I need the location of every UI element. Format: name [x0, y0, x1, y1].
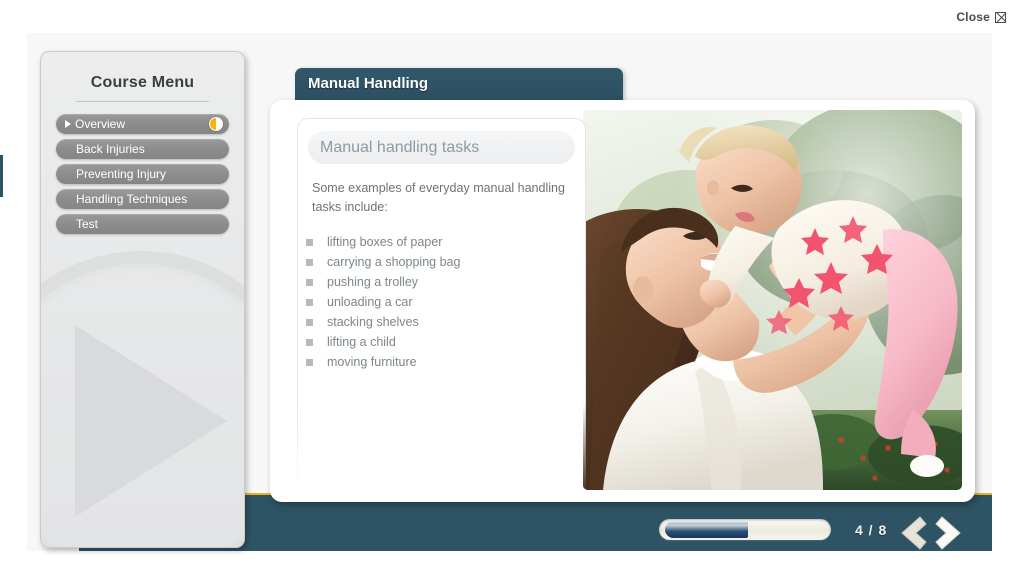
course-menu-sidebar: Course Menu Overview Back Injuries Preve… [40, 51, 245, 548]
content-card: Manual handling tasks Some examples of e… [270, 100, 975, 502]
sidebar-item-label: Test [76, 214, 98, 234]
sidebar-item-label: Back Injuries [76, 139, 145, 159]
square-bullet-icon [306, 259, 313, 266]
square-bullet-icon [306, 239, 313, 246]
list-item: lifting a child [306, 332, 585, 352]
sidebar-item-label: Handling Techniques [76, 189, 187, 209]
previous-page-button[interactable] [896, 512, 930, 554]
list-item-label: lifting a child [327, 335, 396, 349]
sidebar-item-label: Preventing Injury [76, 164, 166, 184]
sidebar-item-handling-techniques[interactable]: Handling Techniques [56, 189, 229, 209]
list-item-label: pushing a trolley [327, 275, 418, 289]
course-menu-title: Course Menu [41, 74, 244, 92]
course-menu-list: Overview Back Injuries Preventing Injury… [41, 114, 244, 234]
chevron-left-icon [896, 512, 930, 554]
photo-illustration [583, 110, 962, 490]
list-item-label: carrying a shopping bag [327, 255, 460, 269]
list-item: stacking shelves [306, 312, 585, 332]
play-caret-icon [65, 120, 71, 128]
square-bullet-icon [306, 339, 313, 346]
window-topbar: Close [0, 0, 1018, 30]
list-item: lifting boxes of paper [306, 232, 585, 252]
list-item-label: lifting boxes of paper [327, 235, 442, 249]
list-item-label: unloading a car [327, 295, 412, 309]
content-header-tab: Manual Handling [295, 68, 623, 102]
task-panel-heading-label: Manual handling tasks [320, 139, 479, 157]
right-gutter [992, 33, 1018, 551]
sidebar-item-back-injuries[interactable]: Back Injuries [56, 139, 229, 159]
square-bullet-icon [306, 299, 313, 306]
menu-divider [76, 101, 209, 102]
sidebar-item-label: Overview [75, 114, 125, 134]
course-player: Close Course Menu Overview Back Injuries… [0, 0, 1018, 571]
square-bullet-icon [306, 319, 313, 326]
square-bullet-icon [306, 279, 313, 286]
course-progress-fill [665, 521, 748, 538]
course-progress-bar[interactable] [659, 519, 831, 540]
close-icon [995, 12, 1006, 23]
sidebar-item-test[interactable]: Test [56, 214, 229, 234]
close-button[interactable]: Close [956, 10, 1006, 24]
list-item-label: stacking shelves [327, 315, 419, 329]
lesson-photo [583, 110, 962, 490]
square-bullet-icon [306, 359, 313, 366]
list-item: unloading a car [306, 292, 585, 312]
list-item: carrying a shopping bag [306, 252, 585, 272]
list-item-label: moving furniture [327, 355, 417, 369]
play-button-watermark-icon [40, 251, 245, 548]
page-counter: 4 / 8 [855, 522, 887, 538]
sidebar-item-preventing-injury[interactable]: Preventing Injury [56, 164, 229, 184]
list-item: pushing a trolley [306, 272, 585, 292]
sidebar-item-overview[interactable]: Overview [56, 114, 229, 134]
task-intro-text: Some examples of everyday manual handlin… [312, 179, 571, 217]
list-item: moving furniture [306, 352, 585, 372]
page-title: Manual Handling [308, 75, 428, 92]
task-text-panel: Manual handling tasks Some examples of e… [297, 118, 586, 502]
next-page-button[interactable] [932, 512, 966, 554]
chevron-right-icon [932, 512, 966, 554]
close-button-label: Close [956, 10, 990, 24]
half-filled-circle-icon [209, 117, 223, 131]
left-edge-rule [0, 155, 3, 197]
task-list: lifting boxes of paper carrying a shoppi… [306, 232, 585, 372]
task-panel-heading: Manual handling tasks [308, 131, 575, 164]
